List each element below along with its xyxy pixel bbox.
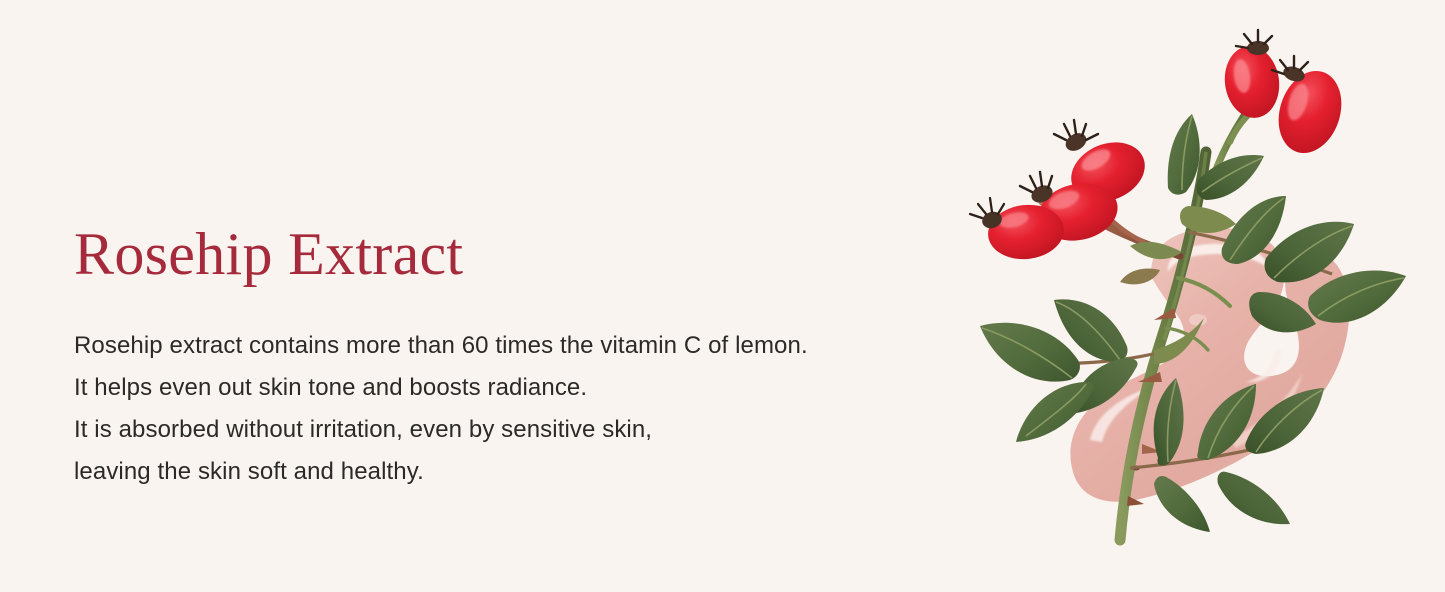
description-paragraph: Rosehip extract contains more than 60 ti…	[74, 287, 954, 493]
berry-body	[1220, 43, 1283, 122]
berry-branch-left	[970, 120, 1182, 284]
description-line: It is absorbed without irritation, even …	[74, 409, 954, 451]
description-line: Rosehip extract contains more than 60 ti…	[74, 325, 954, 367]
text-block: Rosehip Extract Rosehip extract contains…	[74, 222, 954, 493]
description-line: leaving the skin soft and healthy.	[74, 451, 954, 493]
page-title: Rosehip Extract	[74, 222, 954, 287]
rosehip-berry	[1268, 56, 1351, 161]
rosehip-illustration	[930, 20, 1430, 572]
serum-speck	[1189, 314, 1207, 326]
berry-branch-right	[1212, 30, 1352, 180]
rosehip-berry	[1220, 30, 1283, 121]
berry-body	[1268, 63, 1351, 161]
sepal-leaf	[1120, 269, 1160, 285]
rosehip-artwork-svg	[930, 20, 1430, 572]
description-line: It helps even out skin tone and boosts r…	[74, 367, 954, 409]
rosehip-extract-banner: Rosehip Extract Rosehip extract contains…	[0, 0, 1445, 592]
leaf	[1217, 472, 1290, 525]
